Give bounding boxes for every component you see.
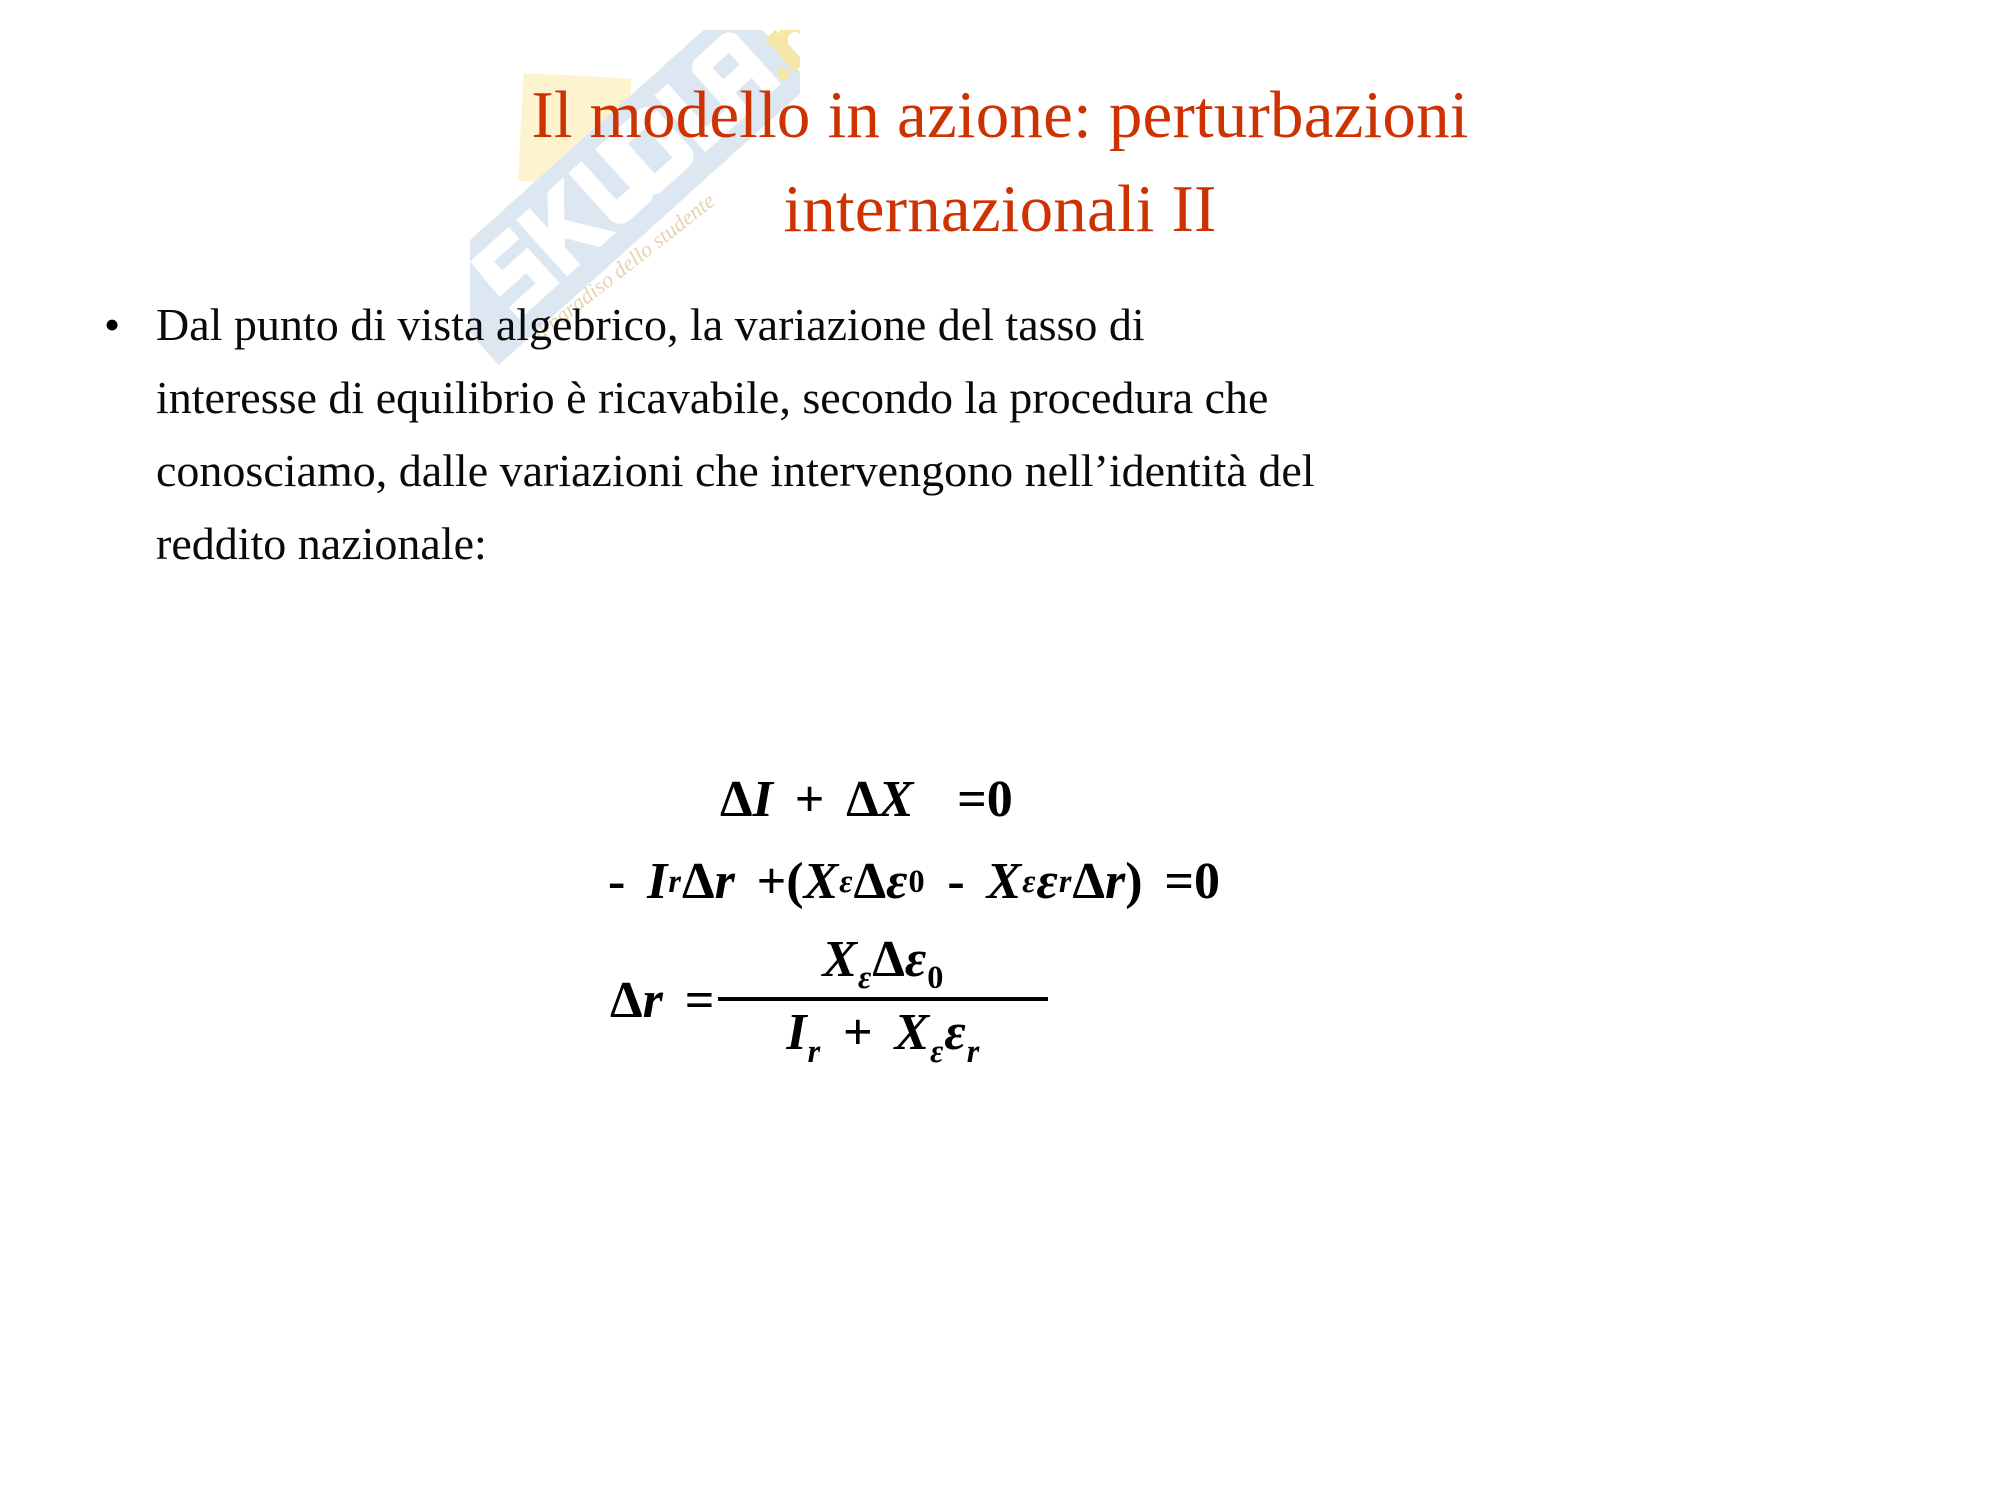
- eq3-epsilon-num: ε: [905, 931, 926, 988]
- eq2-minus-1: -: [608, 852, 625, 911]
- eq2-plus: +: [757, 852, 787, 911]
- eq2-rparen: ): [1125, 852, 1142, 911]
- bullet-line-4: reddito nazionale:: [156, 507, 1506, 580]
- slide-body: • Dal punto di vista algebrico, la varia…: [96, 288, 1896, 580]
- eq2-equals: =: [1164, 852, 1194, 911]
- eq2-X2-subscript: ε: [1021, 863, 1036, 900]
- eq1-delta-1: Δ: [720, 770, 753, 829]
- equation-1: ΔI+ΔX=0: [560, 760, 1220, 838]
- eq2-lparen: (: [786, 852, 803, 911]
- bullet-line-3: conosciamo, dalle variazioni che interve…: [156, 434, 1506, 507]
- eq3-r: r: [643, 971, 663, 1030]
- eq2-epsilon-1: ε: [886, 852, 907, 911]
- eq2-minus-2: -: [947, 852, 964, 911]
- eq2-X-2: X: [987, 852, 1022, 911]
- bullet-line-1: Dal punto di vista algebrico, la variazi…: [156, 288, 1506, 361]
- eq3-epsilonnum-subscript: 0: [926, 959, 944, 995]
- eq2-I-subscript: r: [667, 863, 682, 900]
- fraction: XεΔε0 Ir+Xεεr: [718, 934, 1048, 1067]
- slide-title-line-2: internazionali II: [150, 162, 1850, 256]
- eq3-Xden-subscript: ε: [929, 1033, 944, 1069]
- eq1-I: I: [753, 770, 773, 829]
- bullet-item: • Dal punto di vista algebrico, la varia…: [96, 288, 1896, 580]
- eq3-X-den: X: [894, 1004, 929, 1061]
- eq3-Iden-subscript: r: [807, 1033, 822, 1069]
- eq2-X1-subscript: ε: [838, 863, 853, 900]
- eq3-delta-1: Δ: [610, 971, 643, 1030]
- slide-title: Il modello in azione: perturbazioni inte…: [150, 68, 1850, 256]
- slide-title-line-1: Il modello in azione: perturbazioni: [150, 68, 1850, 162]
- eq2-epsilon2-subscript: r: [1058, 863, 1073, 900]
- fraction-denominator: Ir+Xεεr: [772, 1001, 994, 1066]
- eq2-I: I: [647, 852, 667, 911]
- fraction-numerator: XεΔε0: [808, 934, 958, 997]
- eq1-X: X: [879, 770, 914, 829]
- equation-2: -IrΔr+(XεΔε0-XεεrΔr)=0: [560, 838, 1220, 924]
- bullet-text: Dal punto di vista algebrico, la variazi…: [156, 288, 1506, 580]
- eq1-delta-2: Δ: [846, 770, 879, 829]
- eq2-zero: 0: [1194, 852, 1220, 911]
- eq2-delta-3: Δ: [1072, 852, 1105, 911]
- equation-3: Δr= XεΔε0 Ir+Xεεr: [560, 934, 1220, 1067]
- eq2-r-1: r: [715, 852, 735, 911]
- bullet-marker-icon: •: [96, 288, 156, 361]
- eq2-delta-1: Δ: [682, 852, 715, 911]
- bullet-line-2: interesse di equilibrio è ricavabile, se…: [156, 361, 1506, 434]
- eq3-X-num: X: [822, 931, 857, 988]
- eq3-delta-2: Δ: [872, 931, 905, 988]
- eq3-Xnum-subscript: ε: [857, 959, 872, 995]
- eq3-I-den: I: [786, 1004, 806, 1061]
- eq1-equals: =: [957, 770, 987, 829]
- eq3-equals: =: [685, 971, 715, 1030]
- eq1-plus: +: [795, 770, 825, 829]
- eq1-zero: 0: [987, 770, 1013, 829]
- eq2-r-2: r: [1105, 852, 1125, 911]
- eq3-epsilonden-subscript: r: [966, 1033, 981, 1069]
- eq2-delta-2: Δ: [854, 852, 887, 911]
- eq3-plus: +: [843, 1004, 873, 1061]
- eq2-epsilon1-subscript: 0: [907, 863, 925, 900]
- eq2-epsilon-2: ε: [1037, 852, 1058, 911]
- eq2-X-1: X: [804, 852, 839, 911]
- slide-canvas: il paradiso dello studente Il modello in…: [0, 0, 2000, 1500]
- equation-group: ΔI+ΔX=0 -IrΔr+(XεΔε0-XεεrΔr)=0 Δr= XεΔε0…: [560, 760, 1220, 1067]
- eq3-epsilon-den: ε: [944, 1004, 965, 1061]
